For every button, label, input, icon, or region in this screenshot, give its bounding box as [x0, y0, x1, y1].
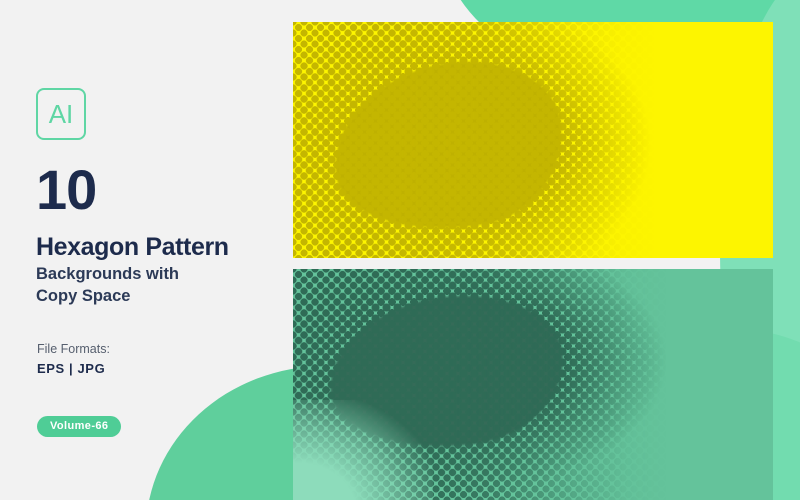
- adobe-illustrator-badge: AI: [36, 88, 86, 140]
- page-subtitle-line-2: Copy Space: [36, 286, 266, 308]
- page-subtitle-line-1: Backgrounds with: [36, 264, 266, 286]
- green-hexagon-panel: [293, 269, 773, 500]
- page-title: Hexagon Pattern: [36, 234, 229, 262]
- yellow-halftone-grid: [293, 22, 773, 258]
- poster-canvas: AI 10 Hexagon Pattern Backgrounds with C…: [0, 0, 800, 500]
- volume-badge: Volume-66: [37, 416, 121, 437]
- adobe-illustrator-badge-label: AI: [49, 99, 74, 130]
- file-formats-value: EPS | JPG: [37, 361, 105, 376]
- info-column: AI 10 Hexagon Pattern Backgrounds with C…: [36, 0, 286, 500]
- page-subtitle: Backgrounds with Copy Space: [36, 264, 266, 308]
- file-formats-label: File Formats:: [37, 342, 110, 356]
- green-panel-corner-fade: [293, 400, 433, 500]
- pattern-count: 10: [36, 162, 96, 218]
- yellow-hexagon-panel: [293, 22, 773, 258]
